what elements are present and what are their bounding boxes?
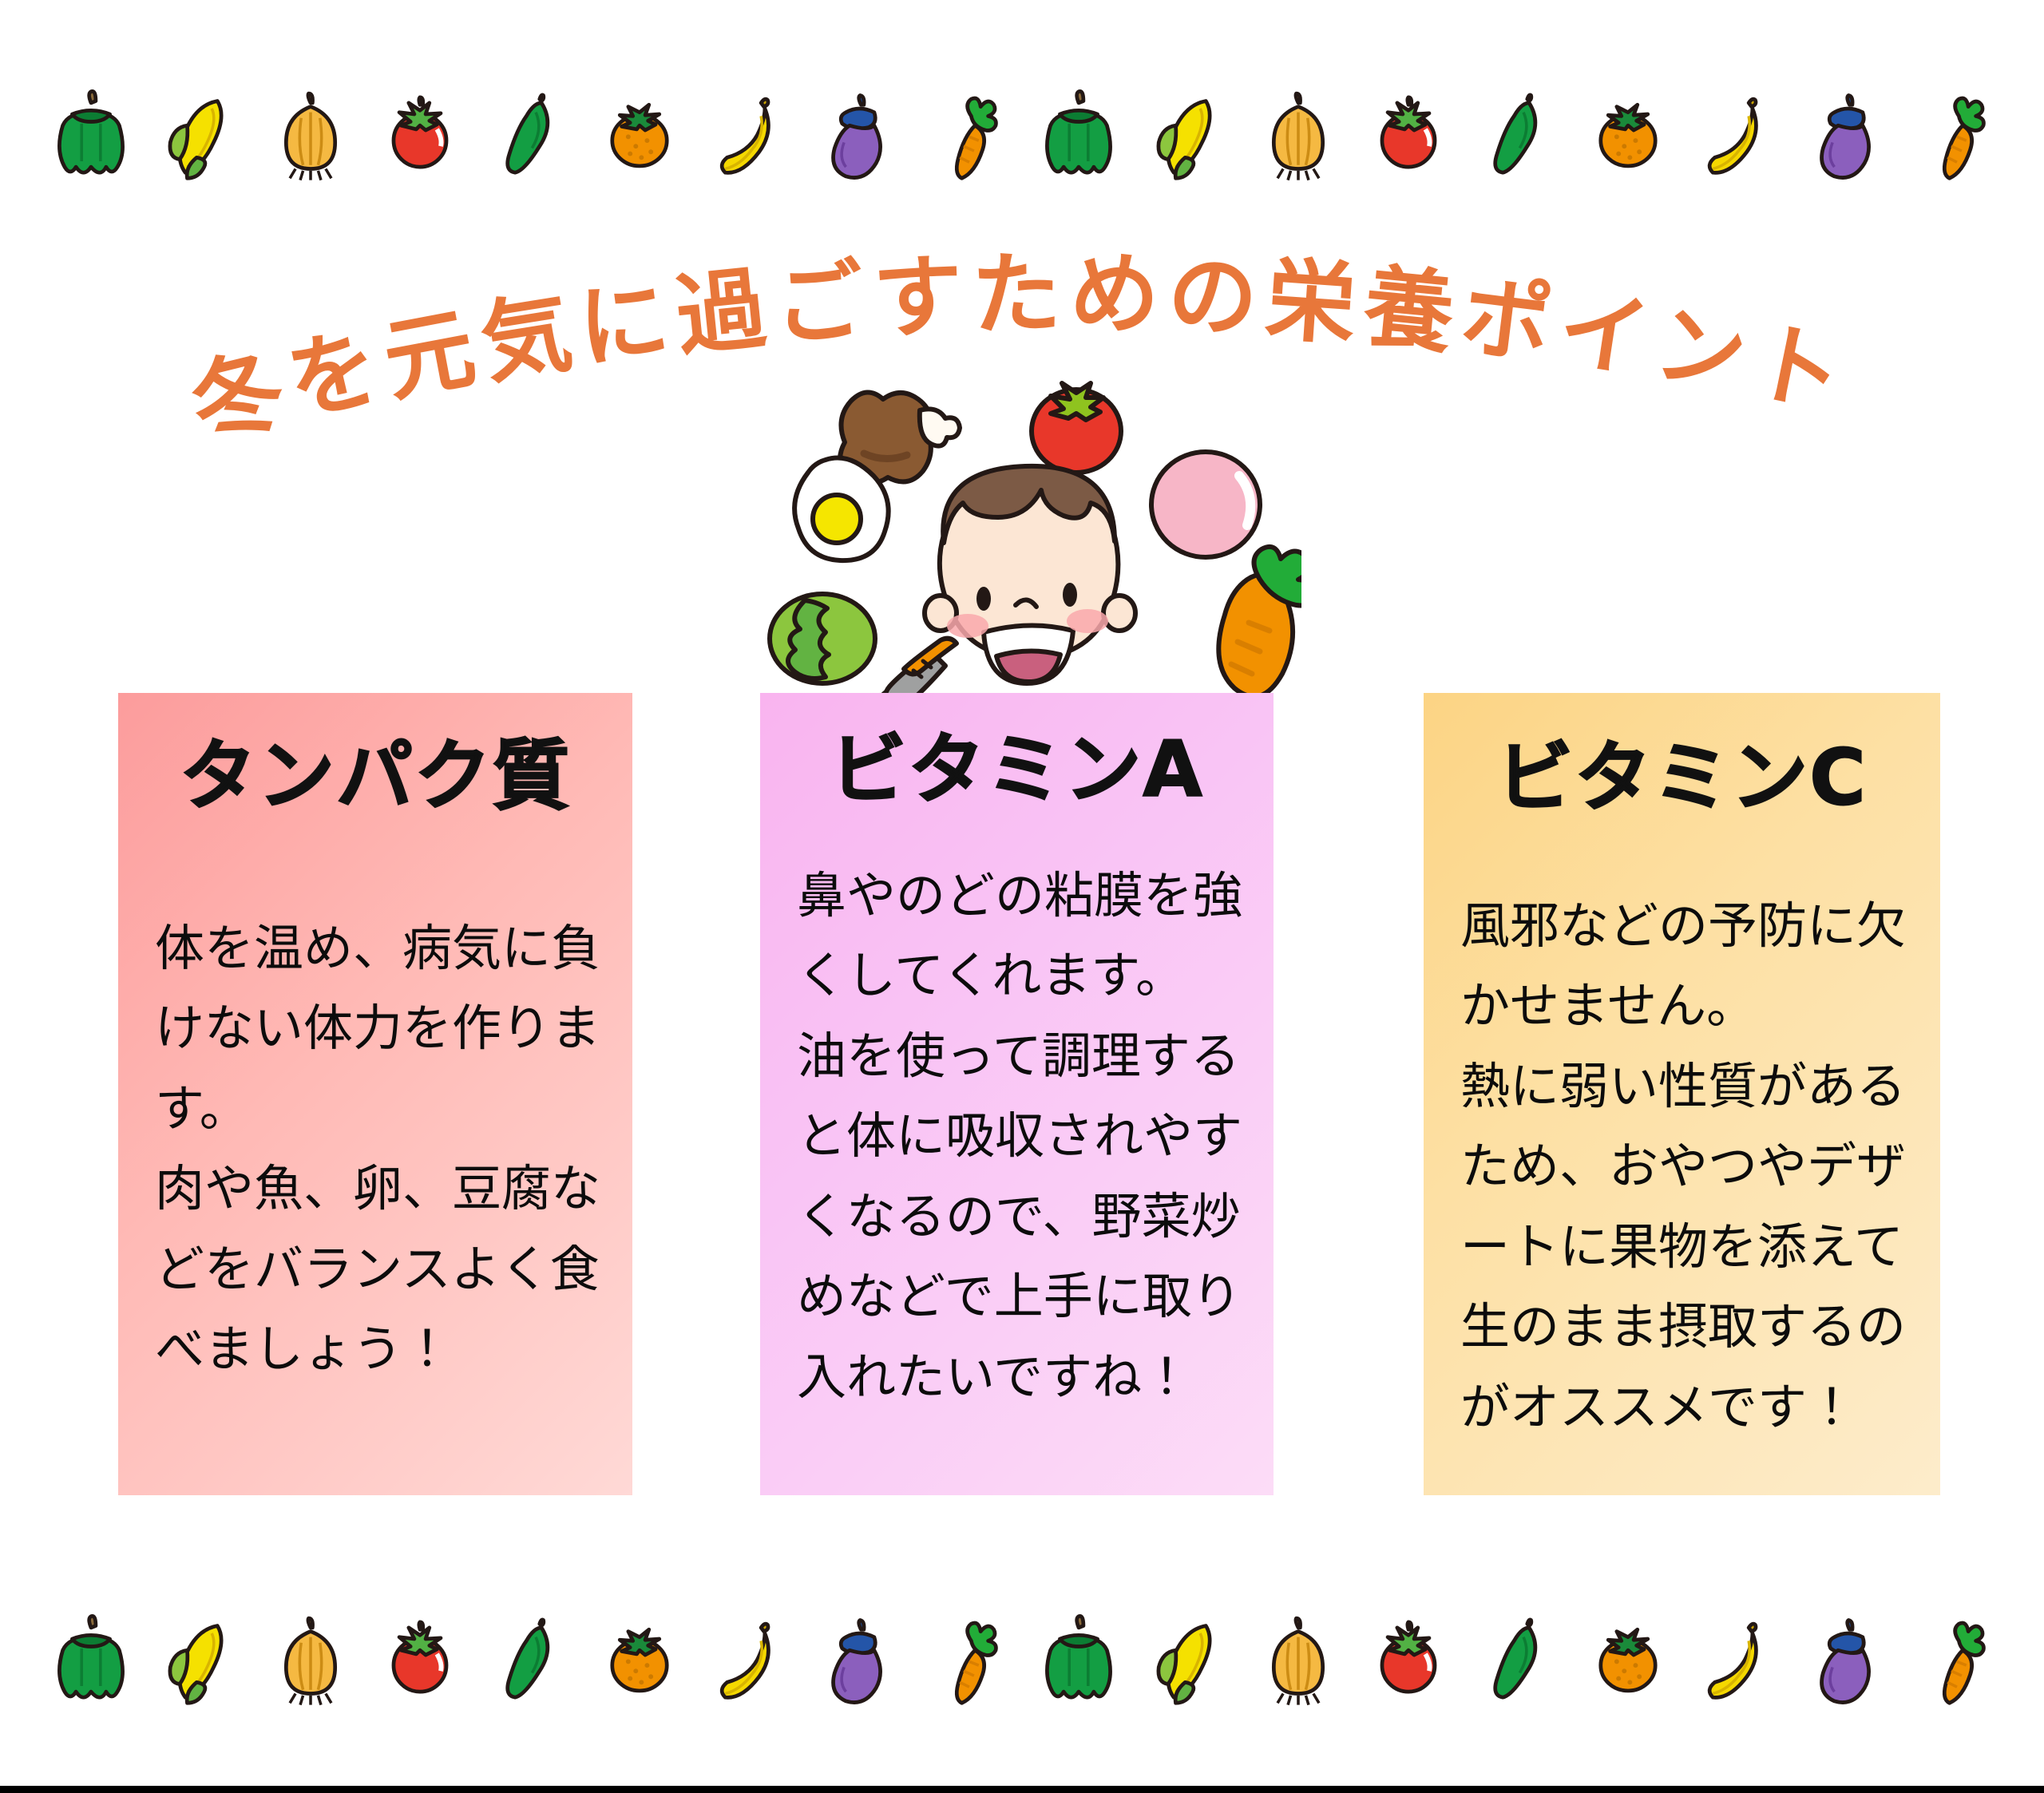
onion-icon bbox=[263, 1611, 358, 1708]
eggplant-icon bbox=[812, 86, 906, 184]
cucumber-icon bbox=[483, 86, 577, 184]
card-protein[interactable]: タンパク質 体を温め、病気に負けない体力を作ります。 肉や魚、卵、豆腐などをバラ… bbox=[118, 693, 632, 1495]
card-protein-title: タンパク質 bbox=[118, 693, 632, 814]
orange-icon bbox=[1581, 86, 1675, 184]
bottom-vegetable-border bbox=[44, 1601, 2004, 1708]
tomato-icon bbox=[1361, 86, 1456, 184]
corn-icon bbox=[1142, 86, 1236, 184]
orange-icon bbox=[592, 86, 687, 184]
green-pepper-icon bbox=[1032, 86, 1126, 184]
corn-icon bbox=[1142, 1611, 1236, 1708]
card-vitamin-c-body: 風邪などの予防に欠かせません。 熱に弱い性質があるため、おやつやデザートに果物を… bbox=[1424, 816, 1940, 1447]
card-protein-body: 体を温め、病気に負けない体力を作ります。 肉や魚、卵、豆腐などをバランスよく食べ… bbox=[118, 814, 632, 1390]
banana-icon bbox=[1690, 86, 1785, 184]
carrot-icon bbox=[1910, 86, 2004, 184]
lettuce-icon bbox=[770, 594, 875, 683]
tomato-icon bbox=[373, 86, 467, 184]
boy-face bbox=[925, 466, 1135, 683]
green-pepper-icon bbox=[44, 1611, 138, 1708]
carrot-icon bbox=[922, 1611, 1016, 1708]
eggplant-icon bbox=[1800, 86, 1895, 184]
tomato-icon bbox=[1032, 383, 1121, 473]
corn-icon bbox=[153, 86, 248, 184]
top-vegetable-border bbox=[44, 76, 2004, 184]
banana-icon bbox=[703, 1611, 797, 1708]
carrot-icon bbox=[1910, 1611, 2004, 1708]
corn-icon bbox=[153, 1611, 248, 1708]
onion-icon bbox=[1251, 86, 1345, 184]
card-vitamin-c[interactable]: ビタミンC 風邪などの予防に欠かせません。 熱に弱い性質があるため、おやつやデザ… bbox=[1424, 693, 1940, 1495]
eggplant-icon bbox=[812, 1611, 906, 1708]
banana-icon bbox=[703, 86, 797, 184]
onion-icon bbox=[1251, 1611, 1345, 1708]
green-pepper-icon bbox=[1032, 1611, 1126, 1708]
tomato-icon bbox=[1361, 1611, 1456, 1708]
tomato-icon bbox=[373, 1611, 467, 1708]
ham-icon bbox=[1151, 452, 1260, 557]
cucumber-icon bbox=[1471, 86, 1565, 184]
onion-icon bbox=[263, 86, 358, 184]
bottom-black-strip bbox=[0, 1786, 2044, 1793]
nutrient-cards: タンパク質 体を温め、病気に負けない体力を作ります。 肉や魚、卵、豆腐などをバラ… bbox=[0, 693, 2044, 1495]
hero-illustration bbox=[743, 351, 1301, 710]
card-vitamin-c-title: ビタミンC bbox=[1424, 693, 1940, 816]
cucumber-icon bbox=[483, 1611, 577, 1708]
eggplant-icon bbox=[1800, 1611, 1895, 1708]
cucumber-icon bbox=[1471, 1611, 1565, 1708]
carrot-icon bbox=[1218, 547, 1301, 697]
card-vitamin-a[interactable]: ビタミンA 鼻やのどの粘膜を強くしてくれます。 油を使って調理すると体に吸収され… bbox=[760, 693, 1274, 1495]
orange-icon bbox=[1581, 1611, 1675, 1708]
card-vitamin-a-body: 鼻やのどの粘膜を強くしてくれます。 油を使って調理すると体に吸収されやすくなるの… bbox=[760, 808, 1274, 1417]
orange-icon bbox=[592, 1611, 687, 1708]
card-vitamin-a-title: ビタミンA bbox=[760, 693, 1274, 808]
green-pepper-icon bbox=[44, 86, 138, 184]
carrot-icon bbox=[922, 86, 1016, 184]
banana-icon bbox=[1690, 1611, 1785, 1708]
